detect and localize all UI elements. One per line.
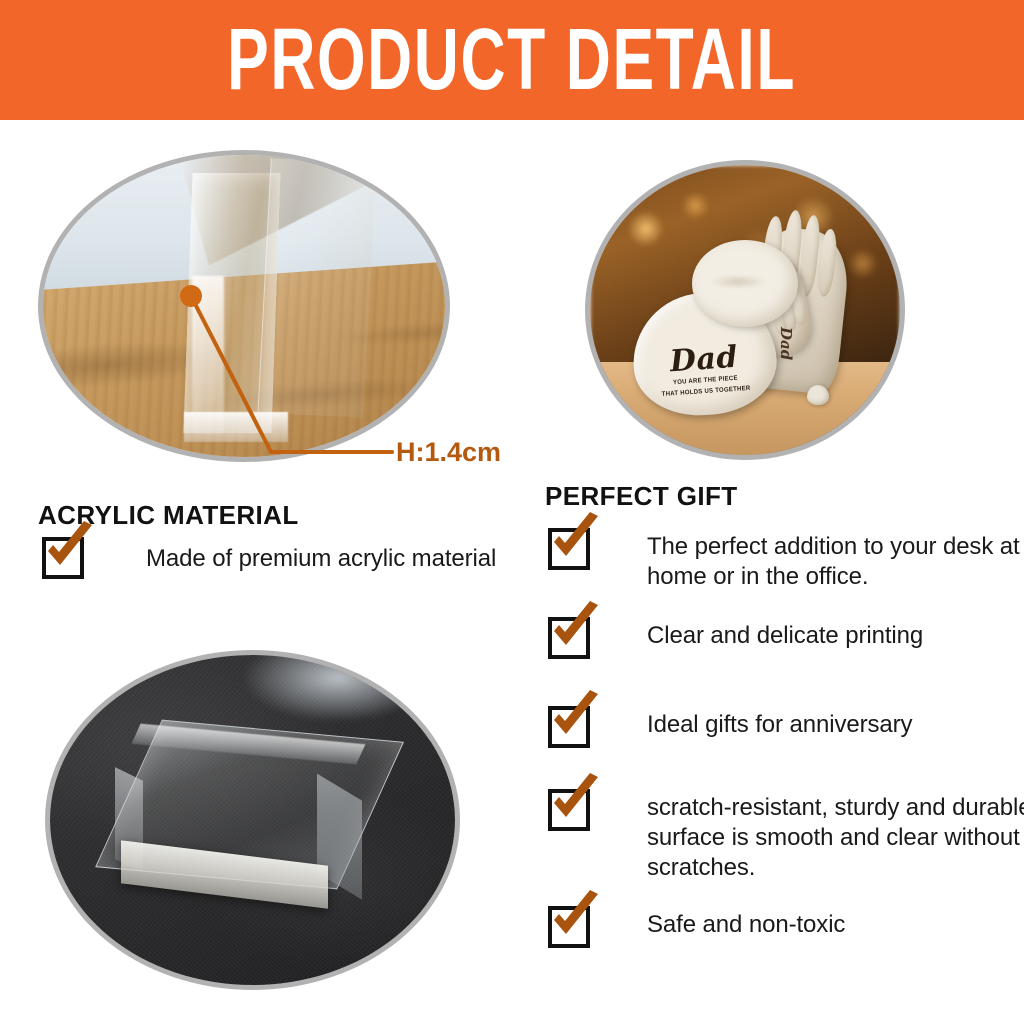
- feature-text: Ideal gifts for anniversary: [647, 710, 1024, 740]
- feature-list-item: scratch-resistant, sturdy and durable, s…: [548, 789, 1024, 884]
- product-detail-page: PRODUCT DETAIL H:1.4cm: [0, 0, 1024, 1024]
- product-photo-acrylic-block: [45, 650, 460, 990]
- page-title: PRODUCT DETAIL: [228, 15, 797, 102]
- background-highlight: [244, 650, 430, 721]
- feature-list-item: Safe and non-toxic: [548, 906, 1024, 948]
- finger: [816, 228, 839, 297]
- checkmark-icon: [548, 617, 590, 659]
- arm-script-dad: Dad: [777, 327, 795, 360]
- feature-text: scratch-resistant, sturdy and durable, s…: [647, 793, 1024, 884]
- acrylic-side-face: [258, 158, 377, 417]
- callout-dot-icon: [180, 285, 202, 307]
- section-heading-perfect-gift: PERFECT GIFT: [545, 481, 738, 512]
- checkmark-icon: [548, 906, 590, 948]
- checkmark-icon: [548, 789, 590, 831]
- acrylic-edge-scene: [43, 155, 445, 457]
- feature-list-item: Made of premium acrylic material: [42, 537, 566, 579]
- feature-text: Clear and delicate printing: [647, 621, 1024, 651]
- heart-upper-lobe: [692, 240, 797, 327]
- checkmark-icon: [548, 706, 590, 748]
- acrylic-bottom-edge: [184, 412, 289, 442]
- product-photo-dad-heart: Dad YOU ARE THE PIECE THAT HOLDS US TOGE…: [585, 160, 905, 460]
- feature-list-item: Clear and delicate printing: [548, 617, 1024, 659]
- dad-heart-scene: Dad YOU ARE THE PIECE THAT HOLDS US TOGE…: [590, 165, 900, 455]
- height-callout-label: H:1.4cm: [396, 437, 501, 468]
- checkmark-icon: [42, 537, 84, 579]
- feature-list-item: The perfect addition to your desk at hom…: [548, 528, 1024, 592]
- feature-text: Made of premium acrylic material: [146, 544, 566, 574]
- acrylic-block-scene: [50, 655, 455, 985]
- mini-heart-icon: [807, 385, 829, 405]
- product-photo-acrylic-edge: [38, 150, 450, 462]
- feature-list-item: Ideal gifts for anniversary: [548, 706, 1024, 748]
- checkmark-icon: [548, 528, 590, 570]
- feature-text: The perfect addition to your desk at hom…: [647, 532, 1024, 592]
- feature-text: Safe and non-toxic: [647, 910, 1024, 940]
- header-banner: PRODUCT DETAIL: [0, 0, 1024, 120]
